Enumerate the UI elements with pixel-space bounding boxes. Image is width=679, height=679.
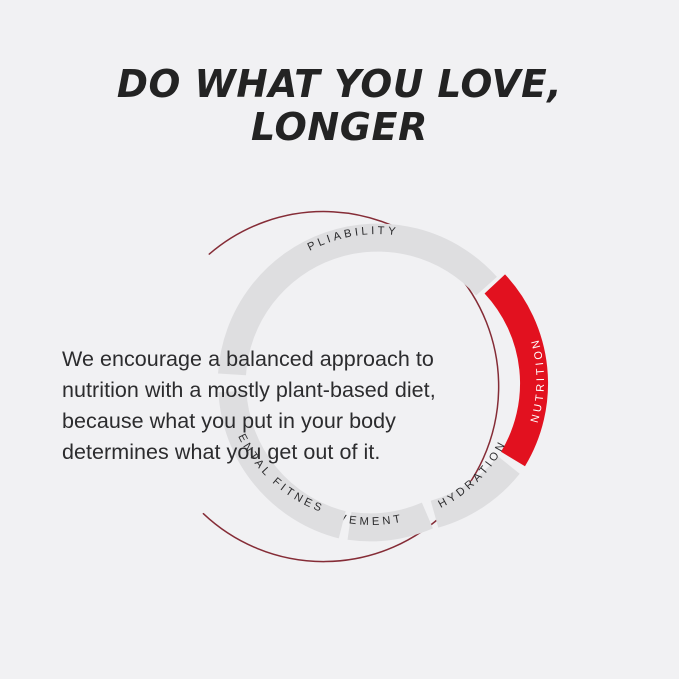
pillars-ring-diagram: PLIABILITY NUTRITION bbox=[0, 0, 679, 679]
page-root: DO WHAT YOU LOVE, LONGER bbox=[0, 0, 679, 679]
ring-segment-nutrition[interactable]: NUTRITION bbox=[495, 284, 547, 459]
body-paragraph: We encourage a balanced approach to nutr… bbox=[62, 344, 462, 468]
